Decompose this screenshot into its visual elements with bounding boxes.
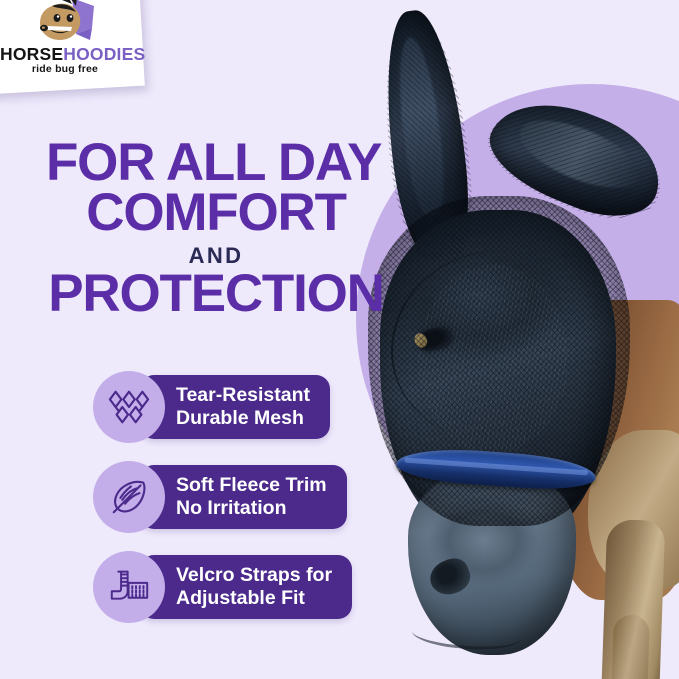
headline-block: FOR ALL DAY COMFORT AND PROTECTION: [46, 138, 386, 319]
feature-pill[interactable]: Tear-Resistant Durable Mesh: [140, 375, 330, 439]
headline-line-2: COMFORT: [46, 188, 386, 238]
product-photo: [352, 0, 679, 679]
brand-word-horse: HORSE: [0, 44, 63, 64]
feather-icon: [93, 461, 165, 533]
brand-word-hoodies: HOODIES: [63, 44, 145, 64]
brand-tagline: ride bug free: [0, 64, 130, 75]
feature-label-line-1: Soft Fleece Trim: [176, 474, 327, 497]
headline-line-1: FOR ALL DAY: [46, 138, 386, 188]
feature-label-line-1: Velcro Straps for: [176, 564, 332, 587]
brand-logo-panel[interactable]: HORSEHOODIES ride bug free: [0, 0, 145, 94]
feature-label-line-2: Adjustable Fit: [176, 587, 332, 610]
ad-banner: HORSEHOODIES ride bug free FOR ALL DAY C…: [0, 0, 679, 679]
feature-label-line-2: No Irritation: [176, 497, 327, 520]
donkey-foreleg: [601, 519, 666, 679]
headline-line-3: PROTECTION: [46, 269, 386, 319]
feature-label-line-1: Tear-Resistant: [176, 384, 310, 407]
mesh-lattice-icon: [93, 371, 165, 443]
feature-label: Soft Fleece Trim No Irritation: [140, 474, 347, 519]
feature-pill[interactable]: Soft Fleece Trim No Irritation: [140, 465, 347, 529]
feature-label: Tear-Resistant Durable Mesh: [140, 384, 330, 429]
velcro-strap-icon: [93, 551, 165, 623]
horse-head-mascot-icon: [32, 0, 106, 50]
feature-label-line-2: Durable Mesh: [176, 407, 310, 430]
feature-pill[interactable]: Velcro Straps for Adjustable Fit: [140, 555, 352, 619]
fly-mask-ear-left: [373, 12, 480, 266]
brand-wordmark: HORSEHOODIES: [0, 46, 130, 64]
feature-label: Velcro Straps for Adjustable Fit: [140, 564, 352, 609]
